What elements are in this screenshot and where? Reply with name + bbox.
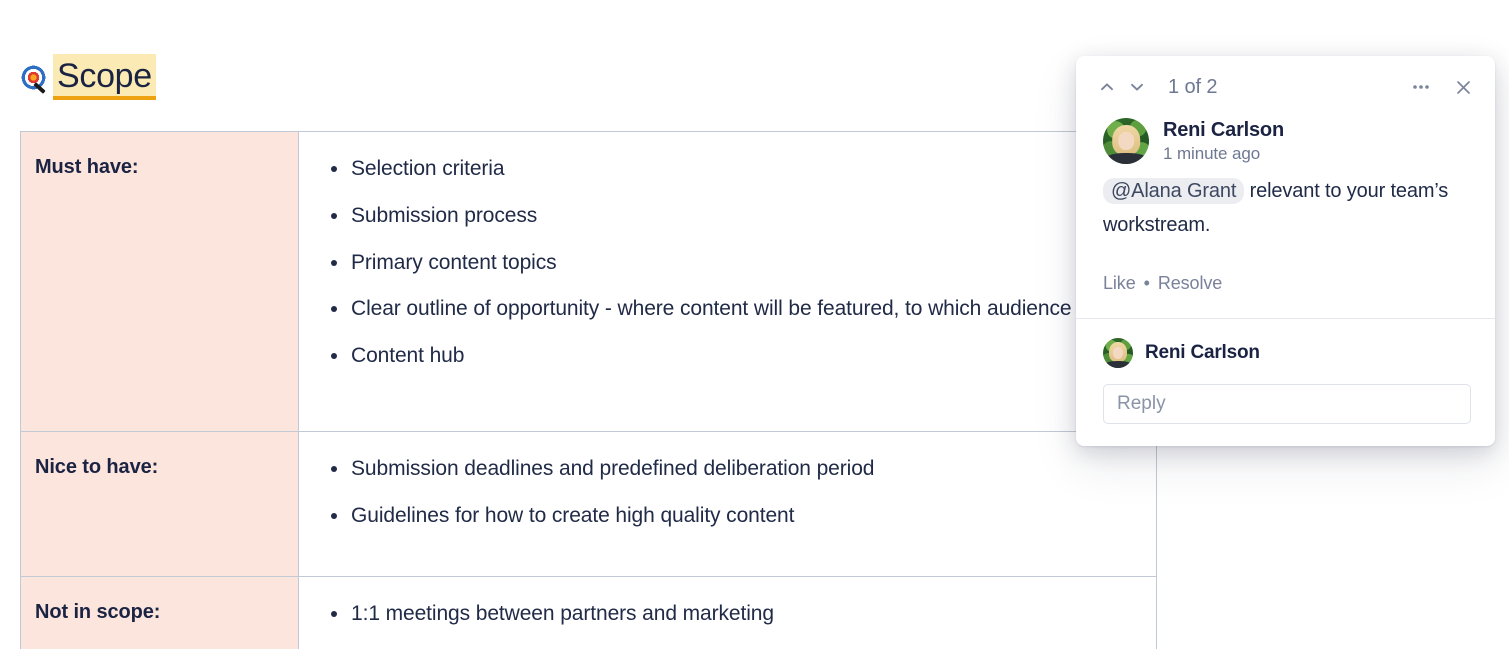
reply-author-row: Reni Carlson bbox=[1103, 338, 1471, 384]
chevron-up-icon[interactable] bbox=[1092, 72, 1122, 102]
list-item: Submission deadlines and predefined deli… bbox=[329, 454, 1140, 484]
list-item: Content hub bbox=[329, 341, 1140, 371]
action-separator: • bbox=[1144, 273, 1150, 294]
table-row: Not in scope: 1:1 meetings between partn… bbox=[21, 577, 1157, 649]
more-options-icon[interactable] bbox=[1406, 72, 1436, 102]
document-page: Scope Must have: Selection criteria Subm… bbox=[0, 0, 1509, 649]
mention-chip[interactable]: @Alana Grant bbox=[1103, 178, 1244, 204]
like-button[interactable]: Like bbox=[1103, 273, 1136, 294]
heading-highlighted-text[interactable]: Scope bbox=[53, 54, 156, 99]
list-item: Selection criteria bbox=[329, 154, 1140, 184]
comment-author-row: Reni Carlson 1 minute ago bbox=[1103, 118, 1471, 174]
comment-author-name: Reni Carlson bbox=[1163, 119, 1284, 142]
table-row: Must have: Selection criteria Submission… bbox=[21, 132, 1157, 432]
comment-panel-header: 1 of 2 bbox=[1076, 56, 1495, 118]
comment-actions: Like • Resolve bbox=[1103, 273, 1471, 318]
comment-text: @Alana Grant relevant to your team’s wor… bbox=[1103, 174, 1471, 273]
avatar bbox=[1103, 338, 1133, 368]
comment-timestamp: 1 minute ago bbox=[1163, 144, 1284, 164]
row-label-must-have: Must have: bbox=[21, 132, 299, 432]
row-label-not-in-scope: Not in scope: bbox=[21, 577, 299, 649]
reply-author-name: Reni Carlson bbox=[1145, 342, 1260, 364]
list-item: Clear outline of opportunity - where con… bbox=[329, 294, 1140, 324]
list-item: Submission process bbox=[329, 201, 1140, 231]
list-item: 1:1 meetings between partners and market… bbox=[329, 599, 1140, 629]
close-icon[interactable] bbox=[1448, 72, 1478, 102]
row-items-must-have: Selection criteria Submission process Pr… bbox=[299, 132, 1157, 432]
resolve-button[interactable]: Resolve bbox=[1158, 273, 1222, 294]
row-items-nice-to-have: Submission deadlines and predefined deli… bbox=[299, 432, 1157, 577]
reply-section: Reni Carlson bbox=[1076, 319, 1495, 446]
table-row: Nice to have: Submission deadlines and p… bbox=[21, 432, 1157, 577]
reply-input[interactable] bbox=[1103, 384, 1471, 424]
comment-body: Reni Carlson 1 minute ago @Alana Grant r… bbox=[1076, 118, 1495, 318]
list-item: Primary content topics bbox=[329, 248, 1140, 278]
page-title: Scope bbox=[20, 52, 156, 102]
comment-author-meta: Reni Carlson 1 minute ago bbox=[1163, 119, 1284, 164]
row-label-nice-to-have: Nice to have: bbox=[21, 432, 299, 577]
comment-counter: 1 of 2 bbox=[1168, 76, 1217, 99]
row-items-not-in-scope: 1:1 meetings between partners and market… bbox=[299, 577, 1157, 649]
avatar bbox=[1103, 118, 1149, 164]
comment-panel: 1 of 2 Reni Carlson 1 minute bbox=[1076, 56, 1495, 446]
chevron-down-icon[interactable] bbox=[1122, 72, 1152, 102]
list-item: Guidelines for how to create high qualit… bbox=[329, 501, 1140, 531]
scope-table: Must have: Selection criteria Submission… bbox=[20, 131, 1157, 649]
dart-target-emoji bbox=[20, 64, 47, 91]
